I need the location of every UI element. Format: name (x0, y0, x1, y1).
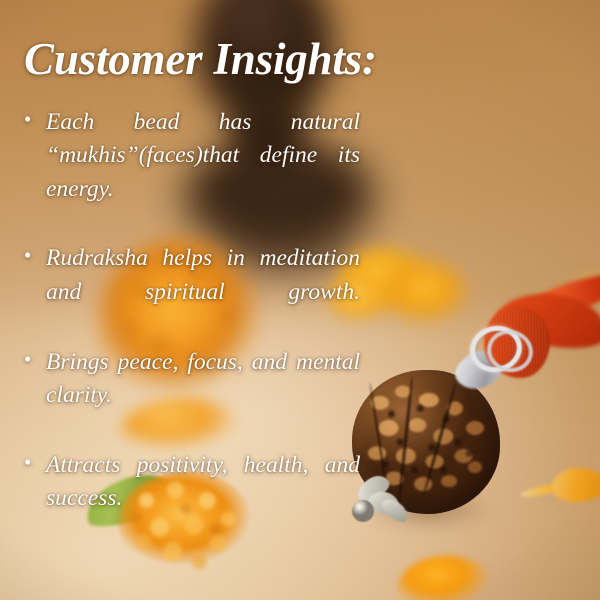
insight-card: Customer Insights: Each bead has natural… (0, 0, 600, 600)
rudraksha-mukhi-line (369, 383, 389, 498)
red-thread-wrap (484, 306, 550, 378)
marigold-petal-bottom (398, 556, 490, 600)
insight-bullet-list: Each bead has natural “mukhis”(faces)tha… (14, 106, 360, 552)
silver-floral-petal (378, 494, 411, 526)
red-thread-arc (492, 285, 600, 356)
page-title: Customer Insights: (24, 36, 444, 84)
bead-cast-shadow (346, 486, 510, 530)
marigold-petal-stalk (520, 482, 565, 500)
rudraksha-bead-crevices (354, 372, 498, 512)
blurred-petal-upper-right-edge (578, 276, 600, 302)
silver-bail-cap (449, 342, 509, 397)
list-item: Brings peace, focus, and mental clarity. (14, 346, 360, 446)
rudraksha-mukhi-line (397, 376, 414, 506)
rudraksha-bead-texture (354, 372, 498, 512)
list-item: Attracts positivity, health, and success… (14, 449, 360, 549)
list-item-label: Each bead has natural “mukhis”(faces)tha… (46, 109, 360, 235)
list-item-label: Rudraksha helps in meditation and spirit… (46, 245, 360, 338)
red-thread-tail (518, 264, 600, 329)
list-item: Each bead has natural “mukhis”(faces)tha… (14, 106, 360, 239)
silver-bail-ring-inner (482, 324, 538, 377)
rudraksha-bead (352, 370, 500, 514)
blurred-marigold-upper-right-b (380, 262, 468, 324)
marigold-petal-right (552, 468, 600, 502)
red-thread-fibers (486, 308, 548, 376)
silver-bail-ring (465, 320, 527, 377)
silver-floral-petal (366, 488, 402, 517)
list-item-label: Brings peace, focus, and mental clarity. (46, 349, 360, 442)
rudraksha-mukhi-line (422, 382, 458, 498)
list-item: Rudraksha helps in meditation and spirit… (14, 242, 360, 342)
list-item-label: Attracts positivity, health, and success… (46, 452, 360, 545)
